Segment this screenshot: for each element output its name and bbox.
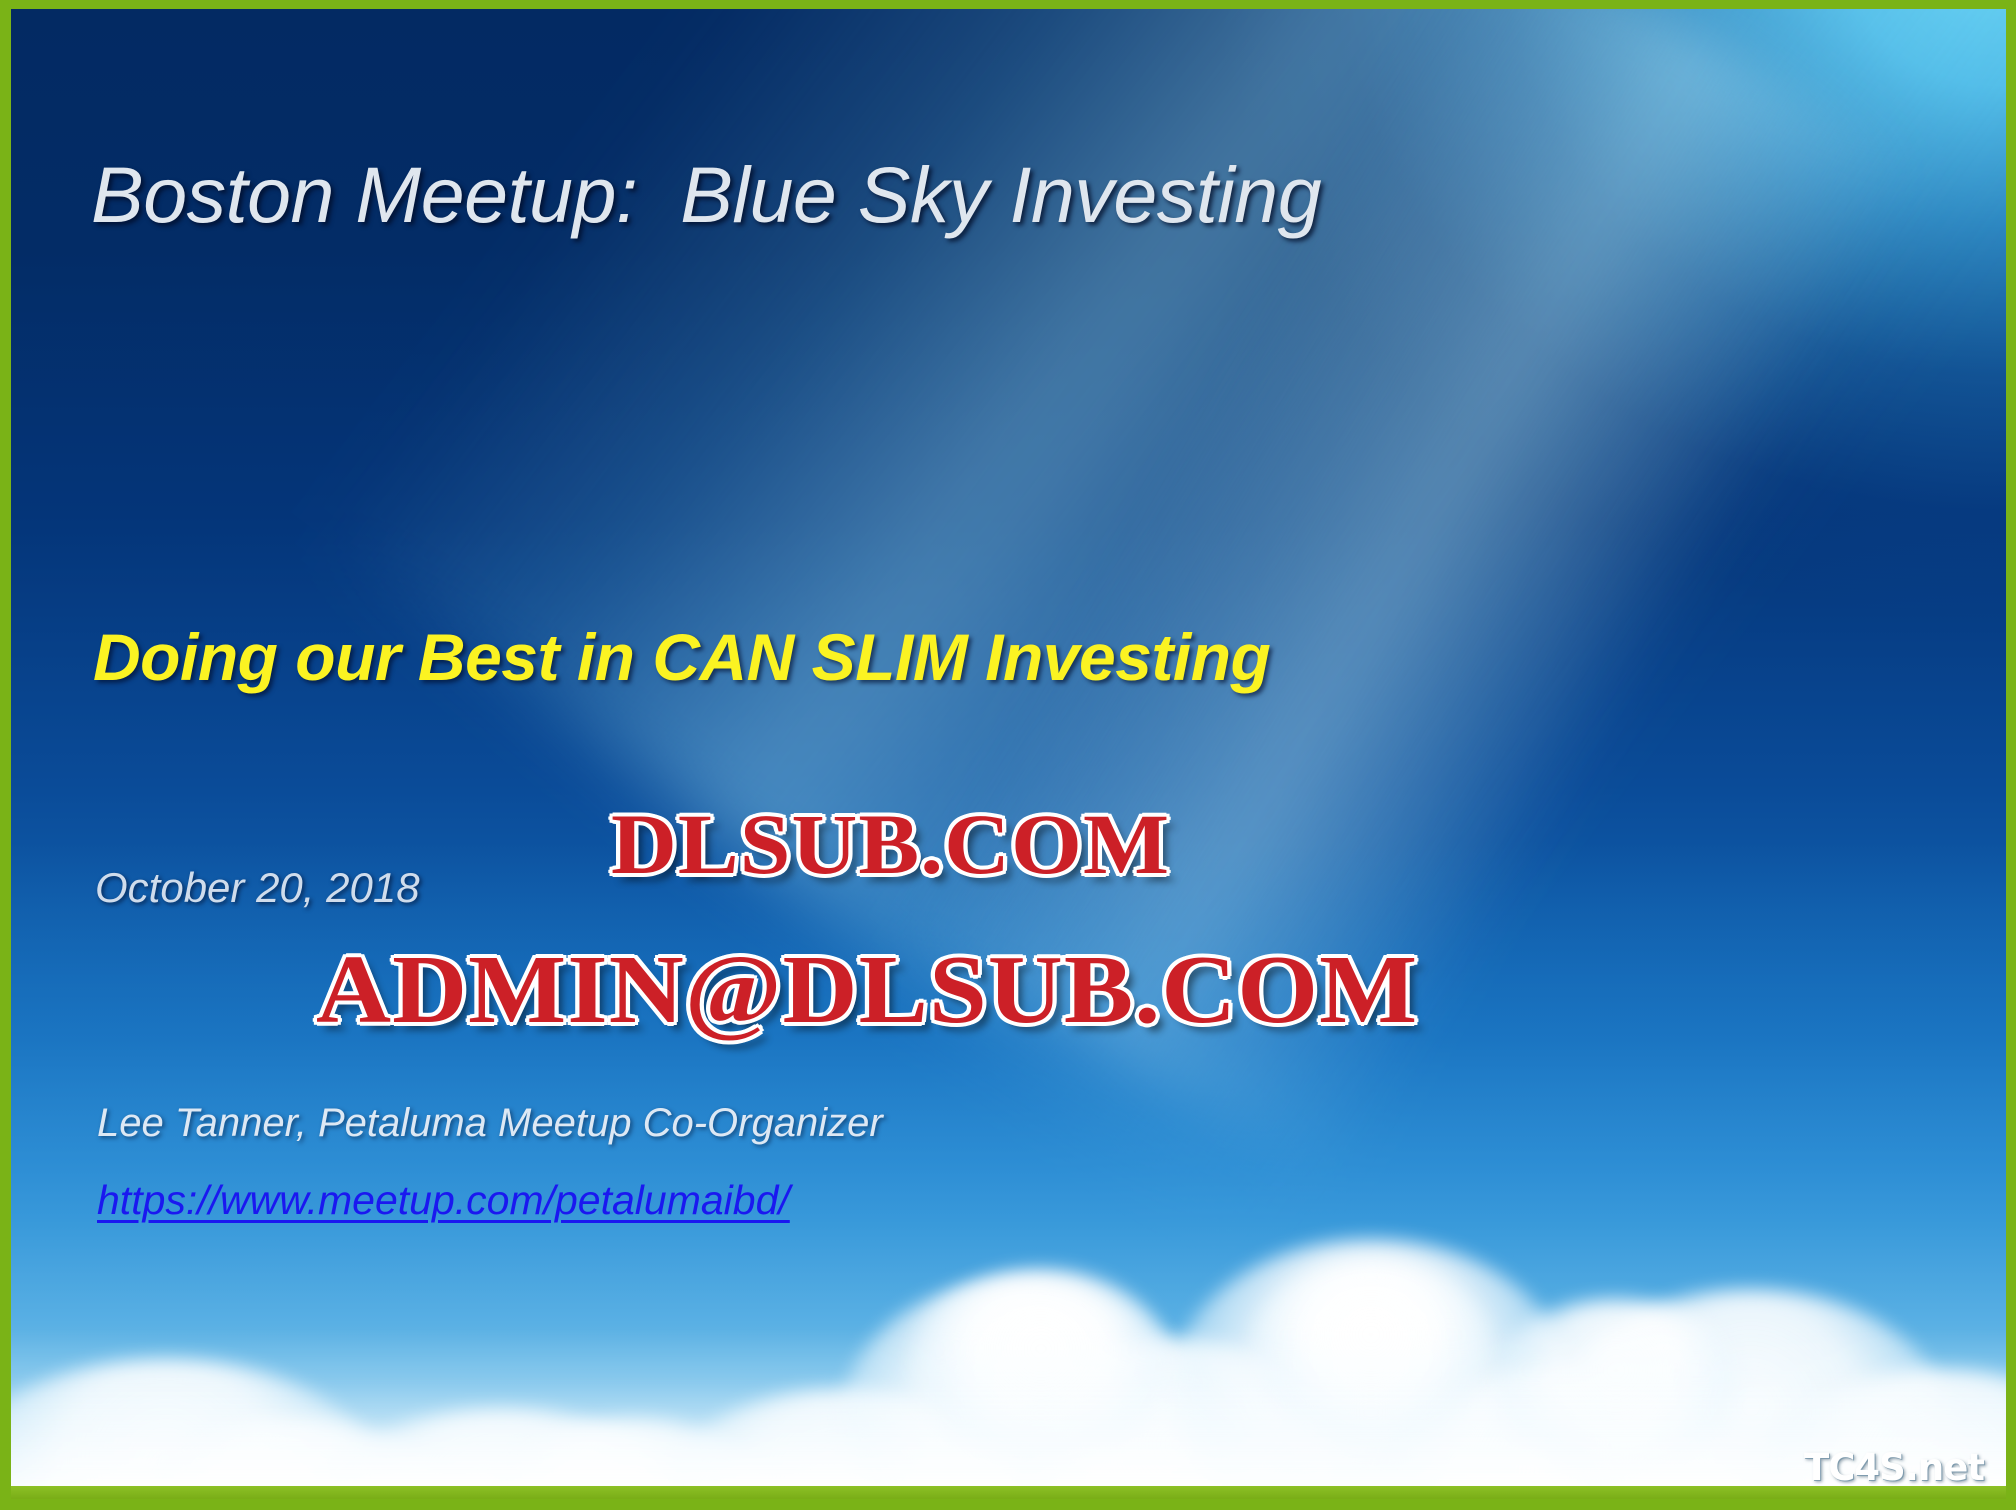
site-tag-watermark: TC4S.net [1804,1446,1984,1489]
slide-subtitle: Doing our Best in CAN SLIM Investing [93,619,1593,695]
presentation-slide: Boston Meetup: Blue Sky Investing Doing … [0,0,2016,1510]
watermark-domain: DLSUB.COM [611,794,1170,894]
slide-content: Boston Meetup: Blue Sky Investing Doing … [11,9,2006,1499]
slide-presenter: Lee Tanner, Petaluma Meetup Co-Organizer [97,1101,883,1146]
slide-date: October 20, 2018 [95,864,420,912]
slide-canvas: Boston Meetup: Blue Sky Investing Doing … [11,9,2006,1499]
watermark-email: ADMIN@DLSUB.COM [316,934,1418,1046]
meetup-url-link[interactable]: https://www.meetup.com/petalumaibd/ [97,1177,790,1224]
slide-title: Boston Meetup: Blue Sky Investing [91,149,1731,241]
